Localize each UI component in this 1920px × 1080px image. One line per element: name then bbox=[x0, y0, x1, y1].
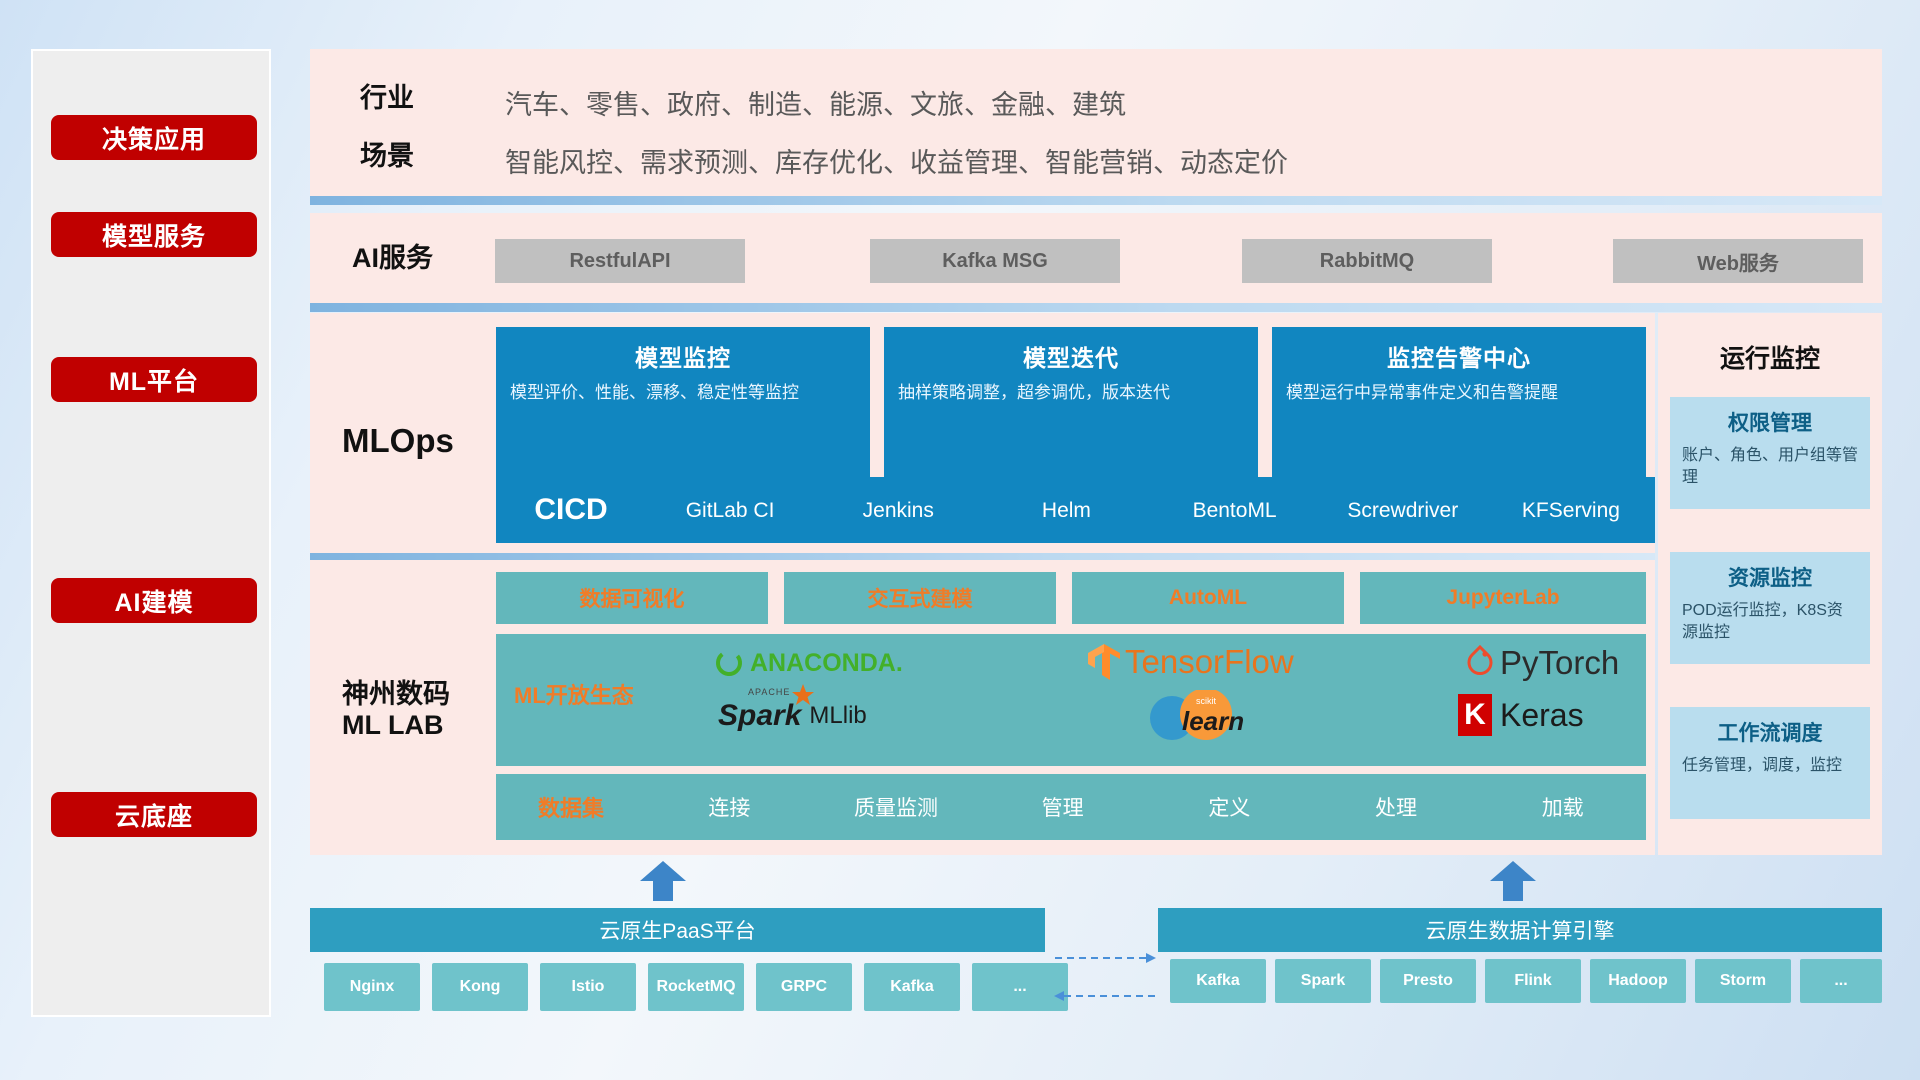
mlops-card-alert-center[interactable]: 监控告警中心 模型运行中异常事件定义和告警提醒 bbox=[1272, 327, 1646, 477]
tool-chip-data-viz[interactable]: 数据可视化 bbox=[496, 572, 768, 624]
mlops-label: MLOps bbox=[342, 422, 454, 460]
band-separator-3 bbox=[310, 553, 1655, 560]
stage-rail: 决策应用 模型服务 ML平台 AI建模 云底座 bbox=[31, 49, 271, 1017]
application-band: 行业 汽车、零售、政府、制造、能源、文旅、金融、建筑 场景 智能风控、需求预测、… bbox=[310, 49, 1882, 196]
service-chip-web-service[interactable]: Web服务 bbox=[1613, 239, 1863, 283]
keras-logo: K Keras bbox=[1458, 694, 1584, 736]
compute-tag-presto[interactable]: Presto bbox=[1380, 959, 1476, 1003]
compute-tag-hadoop[interactable]: Hadoop bbox=[1590, 959, 1686, 1003]
mlops-card-model-monitoring[interactable]: 模型监控 模型评价、性能、漂移、稳定性等监控 bbox=[496, 327, 870, 477]
pytorch-icon bbox=[1464, 645, 1496, 681]
cicd-item-helm[interactable]: Helm bbox=[982, 500, 1150, 521]
paas-header: 云原生PaaS平台 bbox=[310, 908, 1045, 952]
learn-wordmark: learn bbox=[1182, 706, 1244, 737]
spark-kicker: APACHE bbox=[748, 687, 790, 697]
monitor-card-title: 工作流调度 bbox=[1682, 717, 1858, 747]
tensorflow-logo: TensorFlow bbox=[1086, 642, 1294, 682]
monitor-rail: 运行监控 权限管理 账户、角色、用户组等管理 资源监控 POD运行监控，K8S资… bbox=[1658, 313, 1882, 855]
spark-mllib-logo: APACHE Spark MLlib bbox=[718, 699, 867, 733]
band-separator-1 bbox=[310, 196, 1882, 205]
modeling-band: 神州数码 ML LAB 数据可视化 交互式建模 AutoML JupyterLa… bbox=[310, 560, 1655, 855]
ml-lab-label-line1: 神州数码 bbox=[342, 679, 450, 709]
ml-lab-label: 神州数码 ML LAB bbox=[342, 679, 450, 741]
monitor-card-workflow[interactable]: 工作流调度 任务管理，调度，监控 bbox=[1670, 707, 1870, 819]
dataset-bar: 数据集 连接 质量监测 管理 定义 处理 加载 bbox=[496, 774, 1646, 840]
stage-chip-ml-platform[interactable]: ML平台 bbox=[51, 357, 257, 402]
monitor-card-title: 权限管理 bbox=[1682, 407, 1858, 437]
spark-star-icon bbox=[790, 683, 816, 709]
monitor-rail-title: 运行监控 bbox=[1658, 339, 1882, 375]
cicd-bar: CICD GitLab CI Jenkins Helm BentoML Scre… bbox=[496, 477, 1655, 543]
paas-tag-istio[interactable]: Istio bbox=[540, 963, 636, 1011]
cicd-title: CICD bbox=[496, 493, 646, 527]
dataset-item-define[interactable]: 定义 bbox=[1146, 792, 1313, 822]
cloud-link-arrows bbox=[1050, 940, 1160, 1010]
anaconda-logo: ANACONDA. bbox=[714, 648, 903, 678]
up-arrow-paas bbox=[640, 861, 686, 901]
up-arrow-compute bbox=[1490, 861, 1536, 901]
dataset-item-manage[interactable]: 管理 bbox=[979, 792, 1146, 822]
mlops-card-title: 模型监控 bbox=[510, 339, 856, 373]
scenario-row-label: 场景 bbox=[360, 141, 414, 172]
monitor-card-title: 资源监控 bbox=[1682, 562, 1858, 592]
ai-service-label: AI服务 bbox=[352, 243, 433, 274]
keras-wordmark: Keras bbox=[1500, 697, 1584, 734]
svg-text:scikit: scikit bbox=[1196, 696, 1216, 706]
cicd-item-kfserving[interactable]: KFServing bbox=[1487, 500, 1655, 521]
mlops-card-desc: 模型运行中异常事件定义和告警提醒 bbox=[1286, 382, 1632, 405]
spark-wordmark: Spark bbox=[718, 699, 801, 733]
tool-chip-automl[interactable]: AutoML bbox=[1072, 572, 1344, 624]
ai-service-band: AI服务 RestfulAPI Kafka MSG RabbitMQ Web服务 bbox=[310, 213, 1882, 303]
anaconda-icon bbox=[714, 648, 744, 678]
monitor-card-desc: POD运行监控，K8S资源监控 bbox=[1682, 600, 1858, 643]
mlops-card-title: 模型迭代 bbox=[898, 339, 1244, 373]
service-chip-rabbitmq[interactable]: RabbitMQ bbox=[1242, 239, 1492, 283]
dataset-title: 数据集 bbox=[496, 791, 646, 823]
mlops-card-desc: 模型评价、性能、漂移、稳定性等监控 bbox=[510, 382, 856, 405]
dataset-item-quality[interactable]: 质量监测 bbox=[813, 792, 980, 822]
compute-tag-flink[interactable]: Flink bbox=[1485, 959, 1581, 1003]
mllib-wordmark: MLlib bbox=[809, 702, 866, 730]
industry-row-value: 汽车、零售、政府、制造、能源、文旅、金融、建筑 bbox=[505, 83, 1126, 122]
keras-mark: K bbox=[1458, 694, 1492, 736]
dataset-item-connect[interactable]: 连接 bbox=[646, 792, 813, 822]
mlops-card-title: 监控告警中心 bbox=[1286, 339, 1632, 373]
compute-tag-spark[interactable]: Spark bbox=[1275, 959, 1371, 1003]
tool-chip-jupyterlab[interactable]: JupyterLab bbox=[1360, 572, 1646, 624]
pytorch-wordmark: PyTorch bbox=[1500, 644, 1619, 682]
industry-row-label: 行业 bbox=[360, 83, 414, 114]
dataset-item-process[interactable]: 处理 bbox=[1313, 792, 1480, 822]
pytorch-logo: PyTorch bbox=[1464, 644, 1619, 682]
paas-tag-rocketmq[interactable]: RocketMQ bbox=[648, 963, 744, 1011]
dataset-item-load[interactable]: 加载 bbox=[1479, 792, 1646, 822]
stage-chip-cloud-base[interactable]: 云底座 bbox=[51, 792, 257, 837]
anaconda-wordmark: ANACONDA. bbox=[750, 649, 903, 678]
architecture-diagram: 决策应用 模型服务 ML平台 AI建模 云底座 行业 汽车、零售、政府、制造、能… bbox=[0, 0, 1920, 1080]
scikit-learn-logo: scikit learn bbox=[1144, 690, 1262, 742]
tensorflow-icon bbox=[1086, 642, 1122, 682]
stage-chip-model-service[interactable]: 模型服务 bbox=[51, 212, 257, 257]
monitor-card-desc: 账户、角色、用户组等管理 bbox=[1682, 445, 1858, 488]
compute-tag-more[interactable]: ... bbox=[1800, 959, 1882, 1003]
stage-chip-decision[interactable]: 决策应用 bbox=[51, 115, 257, 160]
mlops-card-desc: 抽样策略调整，超参调优，版本迭代 bbox=[898, 382, 1244, 405]
service-chip-restfulapi[interactable]: RestfulAPI bbox=[495, 239, 745, 283]
paas-tag-kafka[interactable]: Kafka bbox=[864, 963, 960, 1011]
tensorflow-wordmark: TensorFlow bbox=[1125, 643, 1294, 681]
mlops-card-model-iteration[interactable]: 模型迭代 抽样策略调整，超参调优，版本迭代 bbox=[884, 327, 1258, 477]
monitor-card-permissions[interactable]: 权限管理 账户、角色、用户组等管理 bbox=[1670, 397, 1870, 509]
cicd-item-bentoml[interactable]: BentoML bbox=[1151, 500, 1319, 521]
compute-tag-storm[interactable]: Storm bbox=[1695, 959, 1791, 1003]
paas-tag-kong[interactable]: Kong bbox=[432, 963, 528, 1011]
compute-tag-kafka[interactable]: Kafka bbox=[1170, 959, 1266, 1003]
paas-tag-nginx[interactable]: Nginx bbox=[324, 963, 420, 1011]
service-chip-kafka-msg[interactable]: Kafka MSG bbox=[870, 239, 1120, 283]
ml-lab-label-line2: ML LAB bbox=[342, 710, 444, 740]
paas-tag-grpc[interactable]: GRPC bbox=[756, 963, 852, 1011]
band-separator-2 bbox=[310, 303, 1882, 312]
monitor-card-resources[interactable]: 资源监控 POD运行监控，K8S资源监控 bbox=[1670, 552, 1870, 664]
stage-chip-ai-modeling[interactable]: AI建模 bbox=[51, 578, 257, 623]
compute-header: 云原生数据计算引擎 bbox=[1158, 908, 1882, 952]
tool-chip-interactive[interactable]: 交互式建模 bbox=[784, 572, 1056, 624]
ml-ecosystem-label: ML开放生态 bbox=[514, 678, 634, 710]
cicd-item-jenkins[interactable]: Jenkins bbox=[814, 500, 982, 521]
cicd-item-gitlab-ci[interactable]: GitLab CI bbox=[646, 500, 814, 521]
ml-ecosystem-box: ML开放生态 ANACONDA. TensorFlow bbox=[496, 634, 1646, 766]
monitor-card-desc: 任务管理，调度，监控 bbox=[1682, 755, 1858, 777]
cicd-item-screwdriver[interactable]: Screwdriver bbox=[1319, 500, 1487, 521]
scenario-row-value: 智能风控、需求预测、库存优化、收益管理、智能营销、动态定价 bbox=[505, 141, 1288, 180]
